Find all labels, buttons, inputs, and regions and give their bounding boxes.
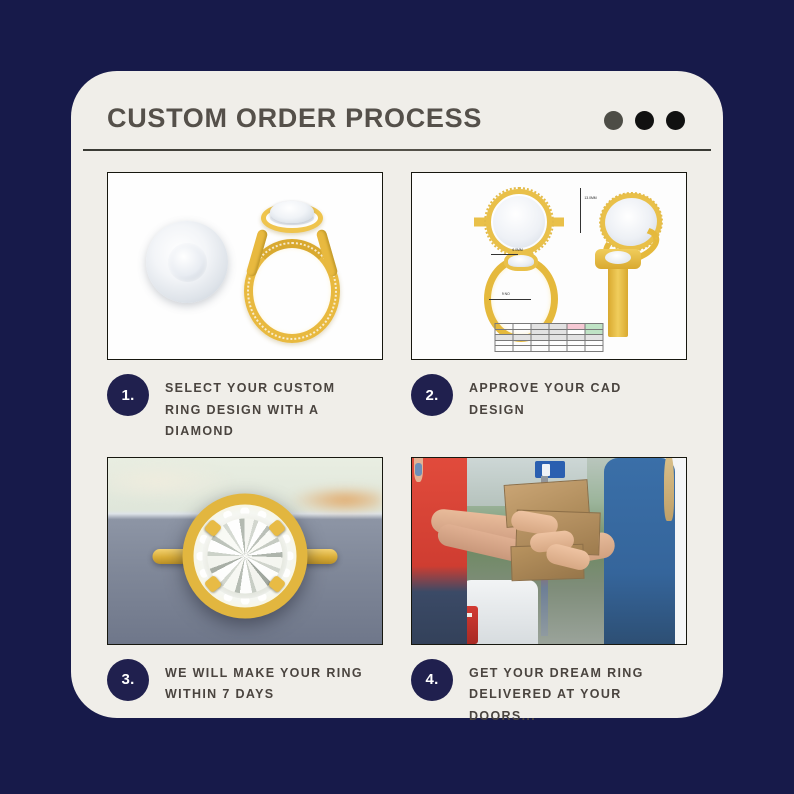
cad-side-head: [595, 249, 641, 269]
cad-dimension-head-label: 6.0MM: [512, 248, 522, 252]
cad-dimension-top-label: 13.0MM: [584, 196, 596, 200]
page-title: CUSTOM ORDER PROCESS: [107, 103, 482, 134]
step-3-caption: 3. WE WILL MAKE YOUR RING WITHIN 7 DAYS: [107, 645, 383, 706]
step-4-badge: 4.: [411, 659, 453, 701]
step-3-text: WE WILL MAKE YOUR RING WITHIN 7 DAYS: [165, 659, 365, 706]
customer-figure: [604, 458, 675, 644]
step-2-image: 13.0MM 6.0MM 9 NO: [411, 172, 687, 360]
window-dot-1-icon[interactable]: [604, 111, 623, 130]
cad-angled-view: [596, 189, 665, 255]
ring-halo: [261, 203, 323, 233]
cell: [549, 346, 567, 352]
finished-ring: [183, 494, 308, 619]
cell: [531, 346, 549, 352]
step-1-badge: 1.: [107, 374, 149, 416]
cad-dimension-line-vertical: [580, 188, 581, 233]
courier-figure: [412, 458, 467, 644]
process-card: CUSTOM ORDER PROCESS: [71, 71, 723, 718]
window-dot-2-icon[interactable]: [635, 111, 654, 130]
step-2-badge: 2.: [411, 374, 453, 416]
step-3-image: [107, 457, 383, 645]
table-row: [495, 346, 603, 352]
ring-center-stone: [270, 201, 314, 223]
steps-grid: 1. SELECT YOUR CUSTOM RING DESIGN WITH A…: [107, 172, 687, 696]
cad-side-view: [608, 263, 628, 337]
window-dot-3-icon[interactable]: [666, 111, 685, 130]
cad-dimension-line-head: [491, 254, 517, 255]
card-header: CUSTOM ORDER PROCESS: [107, 99, 687, 155]
cell: [495, 346, 513, 352]
cad-top-view: [486, 189, 552, 255]
poster-stage: CUSTOM ORDER PROCESS: [0, 0, 794, 794]
step-3-badge: 3.: [107, 659, 149, 701]
gold-ring-side-view: [232, 199, 352, 343]
step-2-caption: 2. APPROVE YOUR CAD DESIGN: [411, 360, 687, 421]
step-1-text: SELECT YOUR CUSTOM RING DESIGN WITH A DI…: [165, 374, 365, 443]
header-divider: [83, 149, 711, 151]
cad-dimension-line-band: [489, 299, 531, 300]
step-card-4: 4. GET YOUR DREAM RING DELIVERED AT YOUR…: [411, 457, 687, 728]
step-4-image: [411, 457, 687, 645]
step-card-2: 13.0MM 6.0MM 9 NO: [411, 172, 687, 443]
step-1-image: [107, 172, 383, 360]
cad-spec-table: [495, 323, 604, 352]
cad-top-bar-right: [548, 218, 564, 227]
step-2-text: APPROVE YOUR CAD DESIGN: [469, 374, 669, 421]
cad-dimension-band-label: 9 NO: [502, 292, 510, 296]
step-4-text: GET YOUR DREAM RING DELIVERED AT YOUR DO…: [469, 659, 669, 728]
loose-diamond-icon: [146, 221, 228, 303]
cell: [585, 346, 603, 352]
step-card-3: 3. WE WILL MAKE YOUR RING WITHIN 7 DAYS: [107, 457, 383, 728]
window-dots: [604, 111, 685, 130]
cell: [567, 346, 585, 352]
cell: [513, 346, 531, 352]
face-mask-icon: [415, 463, 422, 476]
customer-hair: [664, 457, 674, 521]
step-1-caption: 1. SELECT YOUR CUSTOM RING DESIGN WITH A…: [107, 360, 383, 443]
cad-top-bar-left: [474, 218, 490, 227]
step-4-caption: 4. GET YOUR DREAM RING DELIVERED AT YOUR…: [411, 645, 687, 728]
step-card-1: 1. SELECT YOUR CUSTOM RING DESIGN WITH A…: [107, 172, 383, 443]
cad-sheet: 13.0MM 6.0MM 9 NO: [418, 179, 680, 353]
